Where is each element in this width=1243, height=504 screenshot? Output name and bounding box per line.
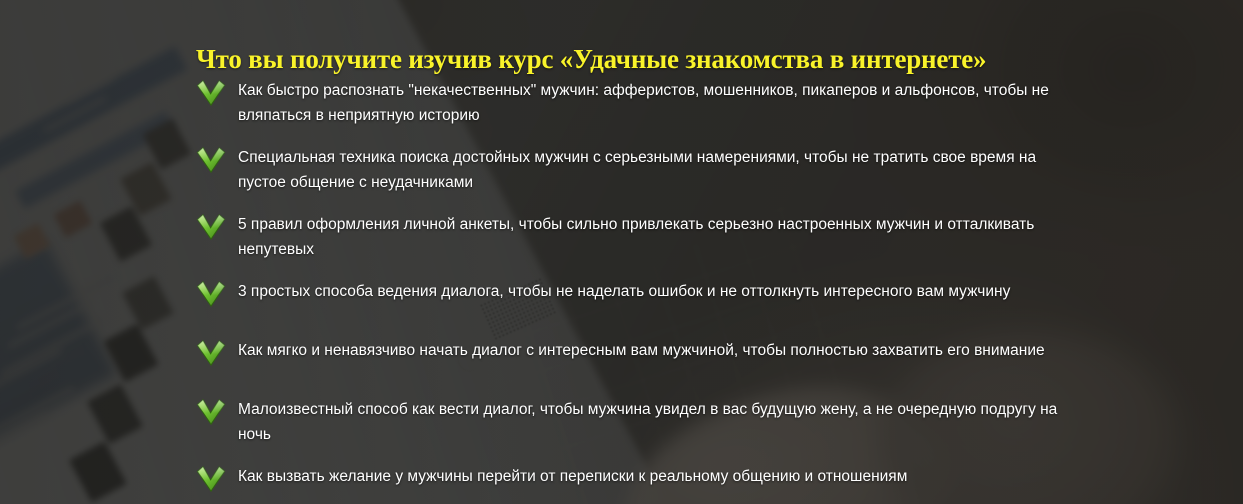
green-check-icon	[196, 80, 226, 106]
list-item: Как мягко и ненавязчиво начать диалог с …	[196, 338, 1206, 380]
list-item-label: Малоизвестный способ как вести диалог, ч…	[238, 397, 1078, 447]
list-item: Как вызвать желание у мужчины перейти от…	[196, 464, 1206, 504]
green-check-icon	[196, 340, 226, 366]
green-check-icon	[196, 399, 226, 425]
list-item: 3 простых способа ведения диалога, чтобы…	[196, 279, 1206, 321]
list-item-label: Как мягко и ненавязчиво начать диалог с …	[238, 338, 1045, 363]
green-check-icon	[196, 214, 226, 240]
green-check-icon	[196, 147, 226, 173]
list-item: 5 правил оформления личной анкеты, чтобы…	[196, 212, 1206, 262]
list-item: Малоизвестный способ как вести диалог, ч…	[196, 397, 1206, 447]
list-item-label: Специальная техника поиска достойных муж…	[238, 145, 1078, 195]
green-check-icon	[196, 281, 226, 307]
benefits-list: Как быстро распознать "некачественных" м…	[196, 78, 1206, 504]
list-item: Специальная техника поиска достойных муж…	[196, 145, 1206, 195]
list-item-label: 5 правил оформления личной анкеты, чтобы…	[238, 212, 1078, 262]
list-item: Как быстро распознать "некачественных" м…	[196, 78, 1206, 128]
page-title: Что вы получите изучив курс «Удачные зна…	[196, 44, 1196, 75]
list-item-label: Как быстро распознать "некачественных" м…	[238, 78, 1078, 128]
list-item-label: 3 простых способа ведения диалога, чтобы…	[238, 279, 1010, 304]
promo-section: Что вы получите изучив курс «Удачные зна…	[0, 0, 1243, 504]
green-check-icon	[196, 466, 226, 492]
list-item-label: Как вызвать желание у мужчины перейти от…	[238, 464, 907, 489]
